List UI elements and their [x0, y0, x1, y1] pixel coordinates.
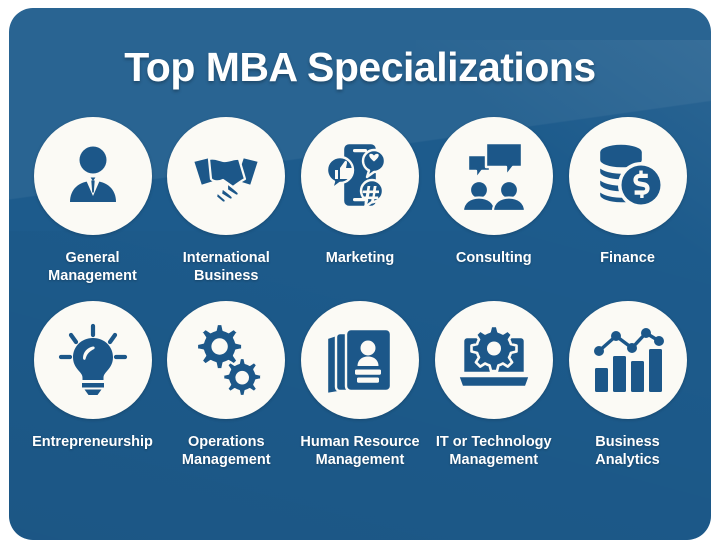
specialization-item-finance[interactable]: Finance: [562, 117, 693, 267]
icon-circle: [569, 301, 687, 419]
icon-circle: [167, 301, 285, 419]
people-speech-bubbles-icon: [456, 138, 532, 214]
specialization-row: General Management In: [27, 117, 693, 285]
gears-icon: [187, 322, 265, 398]
specialization-label: Finance: [600, 249, 655, 267]
laptop-gear-icon: [455, 325, 533, 395]
specialization-item-entrepreneurship[interactable]: Entrepreneurship: [27, 301, 158, 451]
specialization-label: International Business: [183, 249, 270, 285]
specialization-label: IT or Technology Management: [436, 433, 552, 469]
specialization-item-consulting[interactable]: Consulting: [428, 117, 559, 267]
specialization-item-it-technology-management[interactable]: IT or Technology Management: [428, 301, 559, 469]
specialization-label: Marketing: [326, 249, 395, 267]
handshake-icon: [187, 137, 265, 215]
specialization-item-business-analytics[interactable]: Business Analytics: [562, 301, 693, 469]
specialization-item-general-management[interactable]: General Management: [27, 117, 158, 285]
specialization-label: Business Analytics: [595, 433, 659, 469]
poster-card: Top MBA Specializations General Manageme…: [9, 8, 711, 540]
specialization-item-marketing[interactable]: Marketing: [295, 117, 426, 267]
specializations-grid: General Management In: [9, 91, 711, 470]
specialization-item-international-business[interactable]: International Business: [161, 117, 292, 285]
icon-circle: [435, 117, 553, 235]
icon-circle: [301, 301, 419, 419]
specialization-label: Entrepreneurship: [32, 433, 153, 451]
social-phone-icon: [322, 138, 398, 214]
specialization-item-human-resource-management[interactable]: Human Resource Management: [295, 301, 426, 469]
bar-chart-line-icon: [590, 325, 666, 395]
icon-circle: [569, 117, 687, 235]
icon-circle: [34, 301, 152, 419]
coins-dollar-icon: [590, 139, 666, 213]
businessman-icon: [56, 139, 130, 213]
icon-circle: [167, 117, 285, 235]
icon-circle: [301, 117, 419, 235]
page-title: Top MBA Specializations: [9, 8, 711, 91]
specialization-label: General Management: [48, 249, 137, 285]
resume-cards-icon: [322, 323, 398, 397]
icon-circle: [34, 117, 152, 235]
specialization-item-operations-management[interactable]: Operations Management: [161, 301, 292, 469]
specialization-row: Entrepreneurship Operations Management: [27, 301, 693, 469]
specialization-label: Human Resource Management: [300, 433, 419, 469]
specialization-label: Operations Management: [182, 433, 271, 469]
lightbulb-icon: [55, 322, 131, 398]
icon-circle: [435, 301, 553, 419]
specialization-label: Consulting: [456, 249, 532, 267]
